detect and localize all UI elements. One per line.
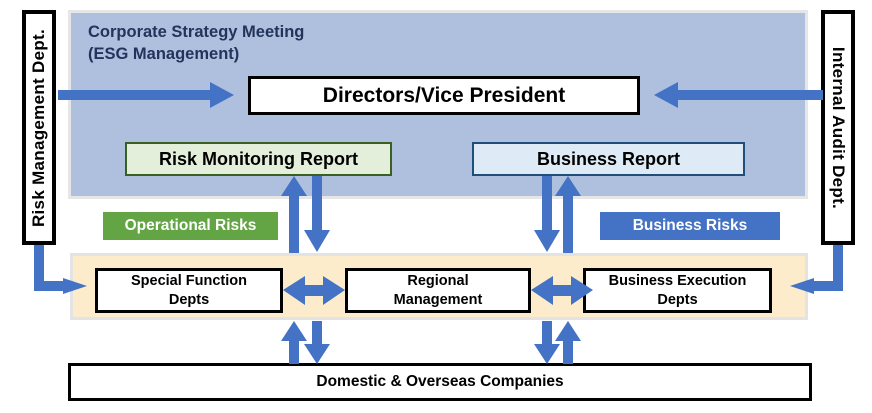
diagram-canvas: Corporate Strategy Meeting (ESG Manageme…: [0, 0, 872, 413]
business-risks-badge: Business Risks: [600, 212, 780, 240]
business-report-box: Business Report: [472, 142, 745, 176]
directors-vice-president-label: Directors/Vice President: [323, 84, 565, 108]
operational-risks-badge: Operational Risks: [103, 212, 278, 240]
risk-management-dept-box: Risk Management Dept.: [22, 10, 56, 245]
corporate-strategy-meeting-title: Corporate Strategy Meeting (ESG Manageme…: [88, 21, 548, 66]
internal-audit-dept-box: Internal Audit Dept.: [821, 10, 855, 245]
arrow-up-special-function-from-companies: [281, 321, 307, 364]
domestic-overseas-companies-box: Domestic & Overseas Companies: [68, 363, 812, 401]
regional-management-box: Regional Management: [345, 268, 531, 313]
arrow-down-business-execution-to-companies: [534, 321, 560, 364]
risk-management-dept-label: Risk Management Dept.: [29, 28, 49, 226]
risk-monitoring-report-label: Risk Monitoring Report: [159, 149, 358, 170]
business-execution-depts-label: Business Execution Depts: [609, 272, 747, 308]
regional-management-label: Regional Management: [394, 272, 483, 308]
special-function-depts-label: Special Function Depts: [131, 272, 247, 308]
arrow-up-business-execution-from-companies: [555, 321, 581, 364]
arrow-down-special-function-to-companies: [304, 321, 330, 364]
operational-risks-label: Operational Risks: [125, 217, 257, 235]
special-function-depts-box: Special Function Depts: [95, 268, 283, 313]
risk-monitoring-report-box: Risk Monitoring Report: [125, 142, 392, 176]
domestic-overseas-companies-label: Domestic & Overseas Companies: [316, 373, 563, 391]
business-execution-depts-box: Business Execution Depts: [583, 268, 772, 313]
business-risks-label: Business Risks: [633, 217, 748, 235]
internal-audit-dept-label: Internal Audit Dept.: [828, 46, 848, 208]
business-report-label: Business Report: [537, 149, 680, 170]
directors-vice-president-box: Directors/Vice President: [248, 76, 640, 115]
